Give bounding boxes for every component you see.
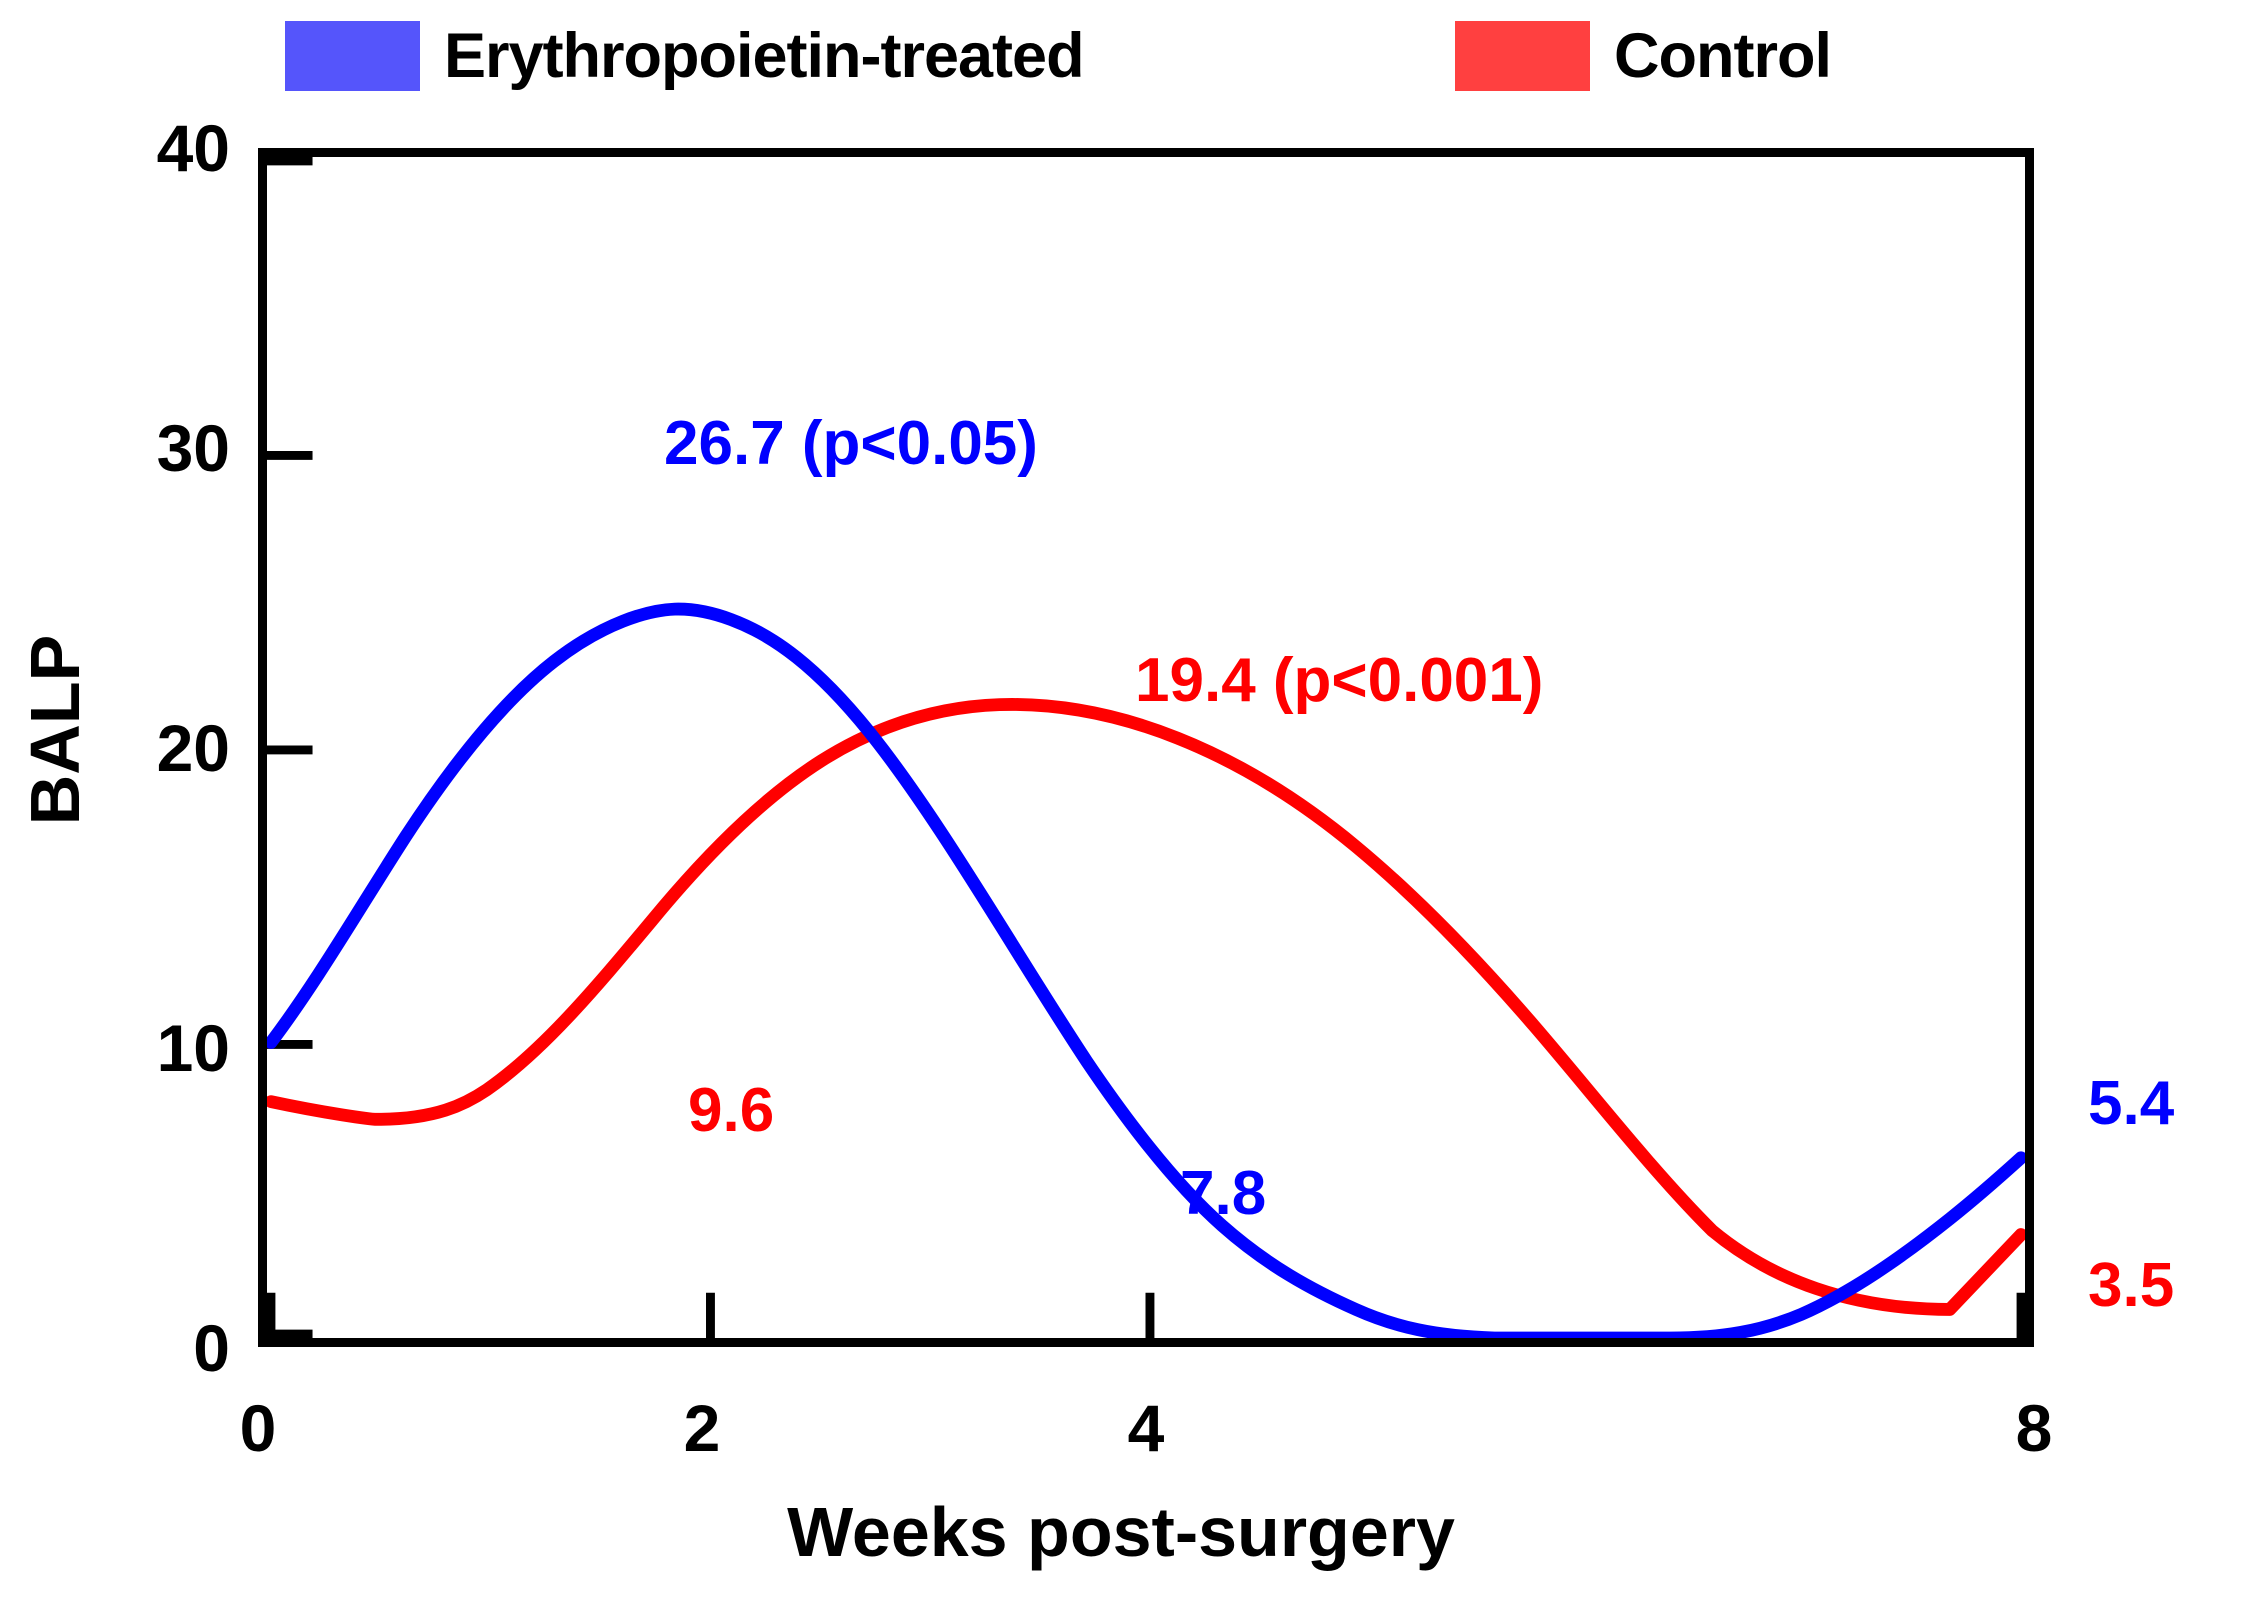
plot-canvas (267, 157, 2025, 1338)
series-line-control (271, 704, 2021, 1309)
annotation-red-peak: 19.4 (p<0.001) (1135, 645, 1543, 716)
plot-area (258, 148, 2034, 1347)
y-tick-label-40: 40 (60, 110, 230, 186)
x-tick-label-4: 4 (1086, 1390, 1206, 1466)
y-tick-label-0: 0 (60, 1310, 230, 1386)
annotation-red-end: 3.5 (2088, 1250, 2174, 1321)
y-tick-label-10: 10 (60, 1010, 230, 1086)
y-axis-ticks (267, 161, 313, 1334)
annotation-blue-mid: 7.8 (1180, 1158, 1266, 1229)
annotation-blue-end: 5.4 (2088, 1068, 2174, 1139)
chart-root: Erythropoietin-treated Control 40 30 20 … (0, 0, 2242, 1607)
x-tick-label-0: 0 (198, 1390, 318, 1466)
x-axis-title: Weeks post-surgery (0, 1492, 2242, 1572)
y-tick-label-30: 30 (60, 410, 230, 486)
x-tick-label-8: 8 (1974, 1390, 2094, 1466)
annotation-blue-peak: 26.7 (p<0.05) (664, 408, 1038, 479)
y-axis-title: BALP (15, 580, 95, 880)
x-tick-label-2: 2 (642, 1390, 762, 1466)
series-line-erythropoietin-treated (271, 609, 2021, 1338)
annotation-red-low: 9.6 (688, 1075, 774, 1146)
